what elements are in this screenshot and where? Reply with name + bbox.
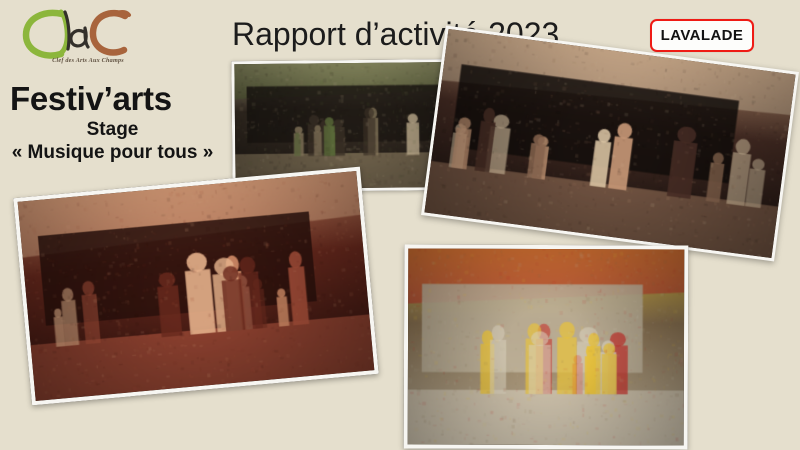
clac-logo-mark [14,4,144,64]
event-subtitle-stage: Stage [0,119,225,141]
event-title: Festiv’arts [10,80,172,118]
event-subtitle-theme: « Musique pour tous » [0,142,225,164]
logo-tagline: Clef des Arts Aux Champs [38,57,138,64]
clac-logo: Clef des Arts Aux Champs [14,4,144,74]
location-badge-lavalade: LAVALADE [650,19,754,52]
slide-canvas: Clef des Arts Aux Champs Festiv’arts Sta… [0,0,800,450]
photo-percussion-workshop [404,245,689,450]
photo-accordion-guitar-warm [13,167,378,406]
photo-ensemble-stone-wall [421,26,799,262]
